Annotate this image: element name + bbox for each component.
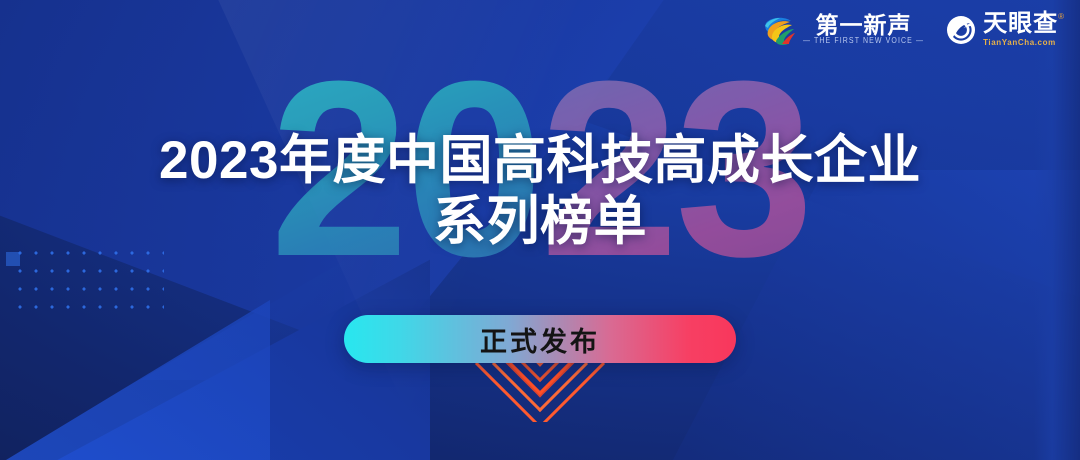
logo-tian-yan-cha-name: 天眼查 (983, 12, 1058, 36)
page-title: 2023年度中国高科技高成长企业 系列榜单 (0, 132, 1080, 250)
logo-bar: 第一新声 — THE FIRST NEW VOICE — 天眼查 ® (762, 12, 1064, 47)
camera-aperture-logo-icon (946, 15, 976, 45)
logo-di-yi-xin-sheng-tagline: — THE FIRST NEW VOICE — (803, 38, 924, 46)
logo-di-yi-xin-sheng-name: 第一新声 (816, 14, 912, 37)
page-title-line-1: 2023年度中国高科技高成长企业 (0, 132, 1080, 189)
swirl-ribbon-logo-icon (762, 14, 796, 46)
release-cta-button[interactable]: 正式发布 (344, 315, 736, 363)
logo-di-yi-xin-sheng-text: 第一新声 — THE FIRST NEW VOICE — (803, 14, 924, 45)
logo-tian-yan-cha[interactable]: 天眼查 ® TianYanCha.com (946, 12, 1064, 47)
logo-tian-yan-cha-name-row: 天眼查 ® (983, 12, 1064, 36)
logo-tian-yan-cha-text: 天眼查 ® TianYanCha.com (983, 12, 1064, 47)
release-cta-label: 正式发布 (480, 320, 600, 359)
background-facet-bottom-left-2 (0, 300, 270, 460)
promo-banner: 2023 第一新声 — THE FIRST NEW VOICE — (0, 0, 1080, 460)
page-title-line-2: 系列榜单 (0, 193, 1080, 250)
registered-trademark-icon: ® (1058, 13, 1064, 21)
logo-di-yi-xin-sheng[interactable]: 第一新声 — THE FIRST NEW VOICE — (762, 14, 924, 46)
logo-tian-yan-cha-domain: TianYanCha.com (983, 38, 1056, 47)
